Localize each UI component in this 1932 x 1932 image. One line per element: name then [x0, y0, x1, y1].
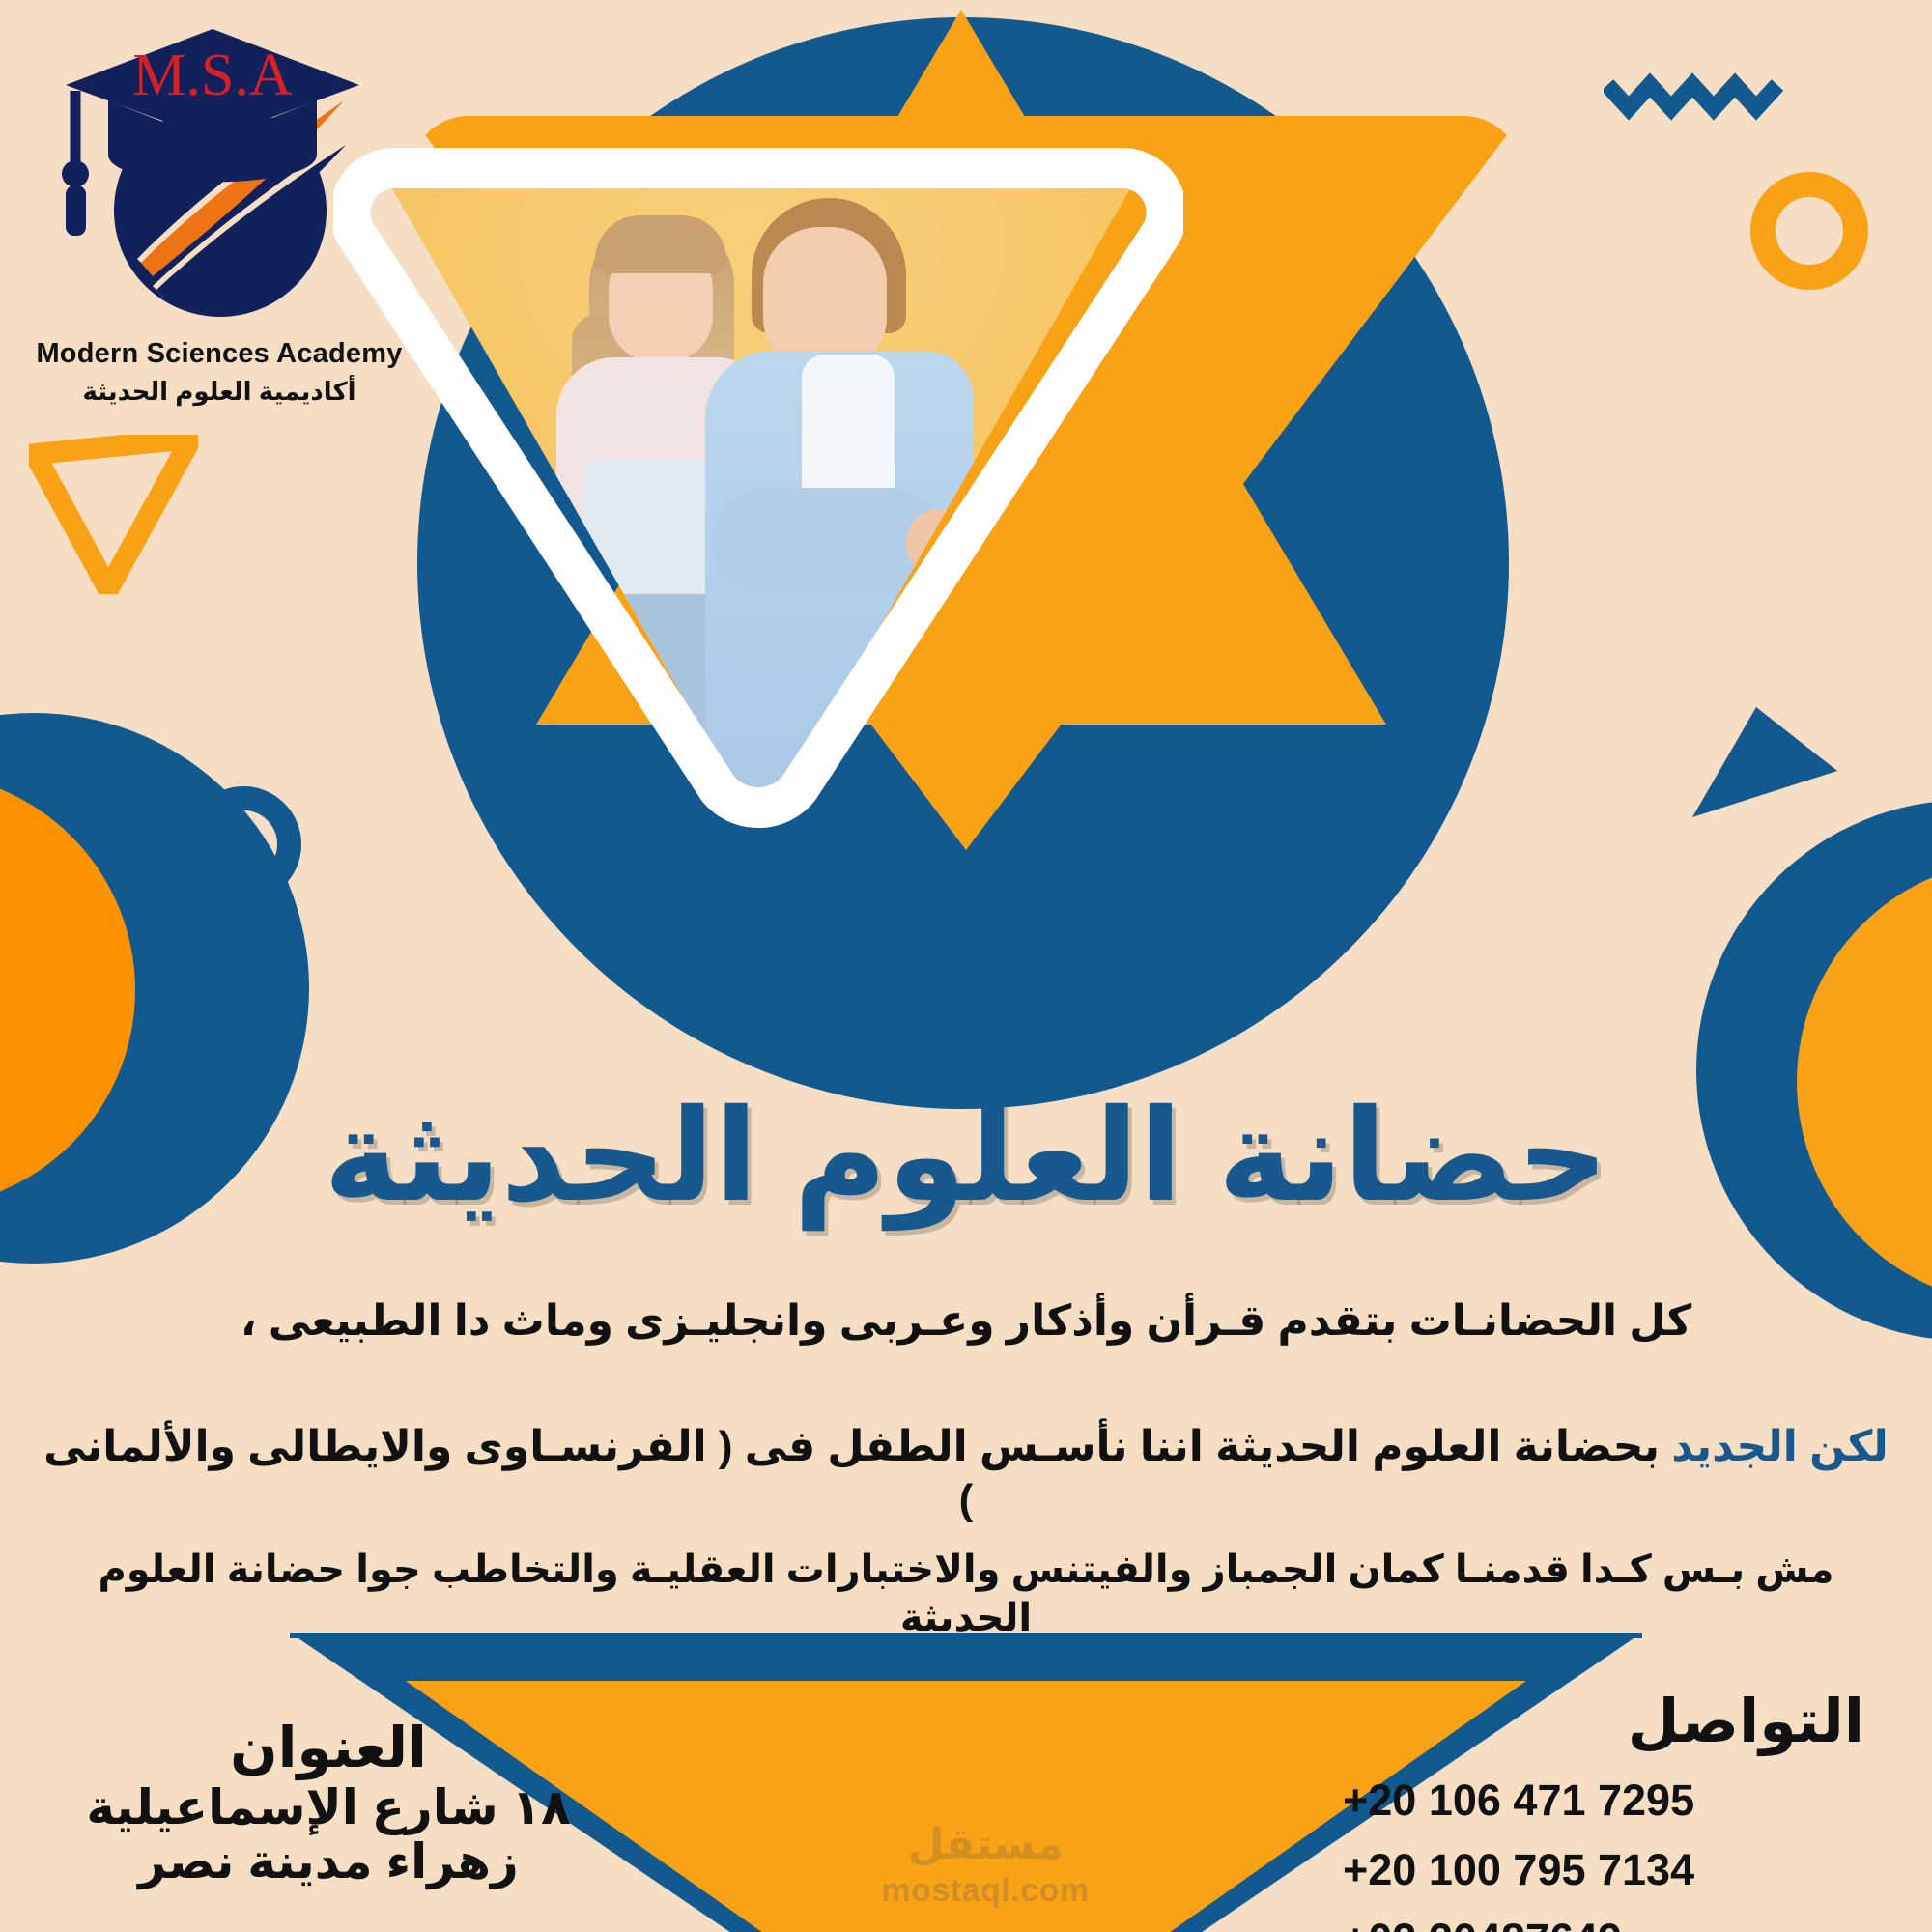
svg-text:M.S.A: M.S.A [132, 43, 293, 108]
contact-block: التواصل +20 106 471 7295 +20 100 795 713… [1343, 1686, 1864, 1932]
contact-title: التواصل [1343, 1686, 1864, 1756]
phone-3[interactable]: +02 20487649 [1343, 1915, 1864, 1932]
paragraph-three: مش بـس كـدا قدمنـا كمان الجمباز والفيتنس… [39, 1546, 1893, 1642]
address-block: العنوان ١٨ شارع الإسماعيلية زهراء مدينة … [68, 1715, 589, 1889]
phone-1[interactable]: +20 106 471 7295 [1343, 1776, 1864, 1826]
poster-canvas: M.S.A Modern Sciences Academy أكاديمية ا… [0, 0, 1932, 1932]
triangle-filled-icon [1690, 705, 1840, 819]
paragraph-two: لكن الجديد بحضانة العلوم الحديثة اننا نأ… [39, 1420, 1893, 1526]
address-line-1: ١٨ شارع الإسماعيلية [68, 1780, 589, 1834]
phone-2[interactable]: +20 100 795 7134 [1343, 1845, 1864, 1895]
address-line-2: زهراء مدينة نصر [68, 1834, 589, 1889]
msa-logo-icon: M.S.A [58, 19, 367, 348]
address-title: العنوان [68, 1715, 589, 1780]
page-title: حضانة العلوم الحديثة [0, 1082, 1932, 1231]
watermark-latin: mostaql.com [840, 1872, 1130, 1910]
hero-frame-triangle [333, 135, 1183, 831]
paragraph-one: كل الحضانـات بتقدم قـرأن وأذكار وعـربى و… [116, 1294, 1816, 1348]
mostaql-watermark: مستقل mostaql.com [840, 1824, 1130, 1910]
paragraph-two-rest: بحضانة العلوم الحديثة اننا نأسـس الطفل ف… [43, 1423, 1671, 1523]
brand-name-ar: أكاديمية العلوم الحديثة [12, 377, 427, 407]
zigzag-icon [1604, 68, 1787, 121]
watermark-arabic: مستقل [840, 1824, 1130, 1866]
ring-orange-icon [1750, 172, 1868, 290]
ring-blue-icon [185, 786, 301, 902]
paragraph-two-highlight: لكن الجديد [1671, 1423, 1889, 1470]
brand-name-en: Modern Sciences Academy [12, 338, 427, 370]
triangle-outline-icon [29, 435, 198, 594]
